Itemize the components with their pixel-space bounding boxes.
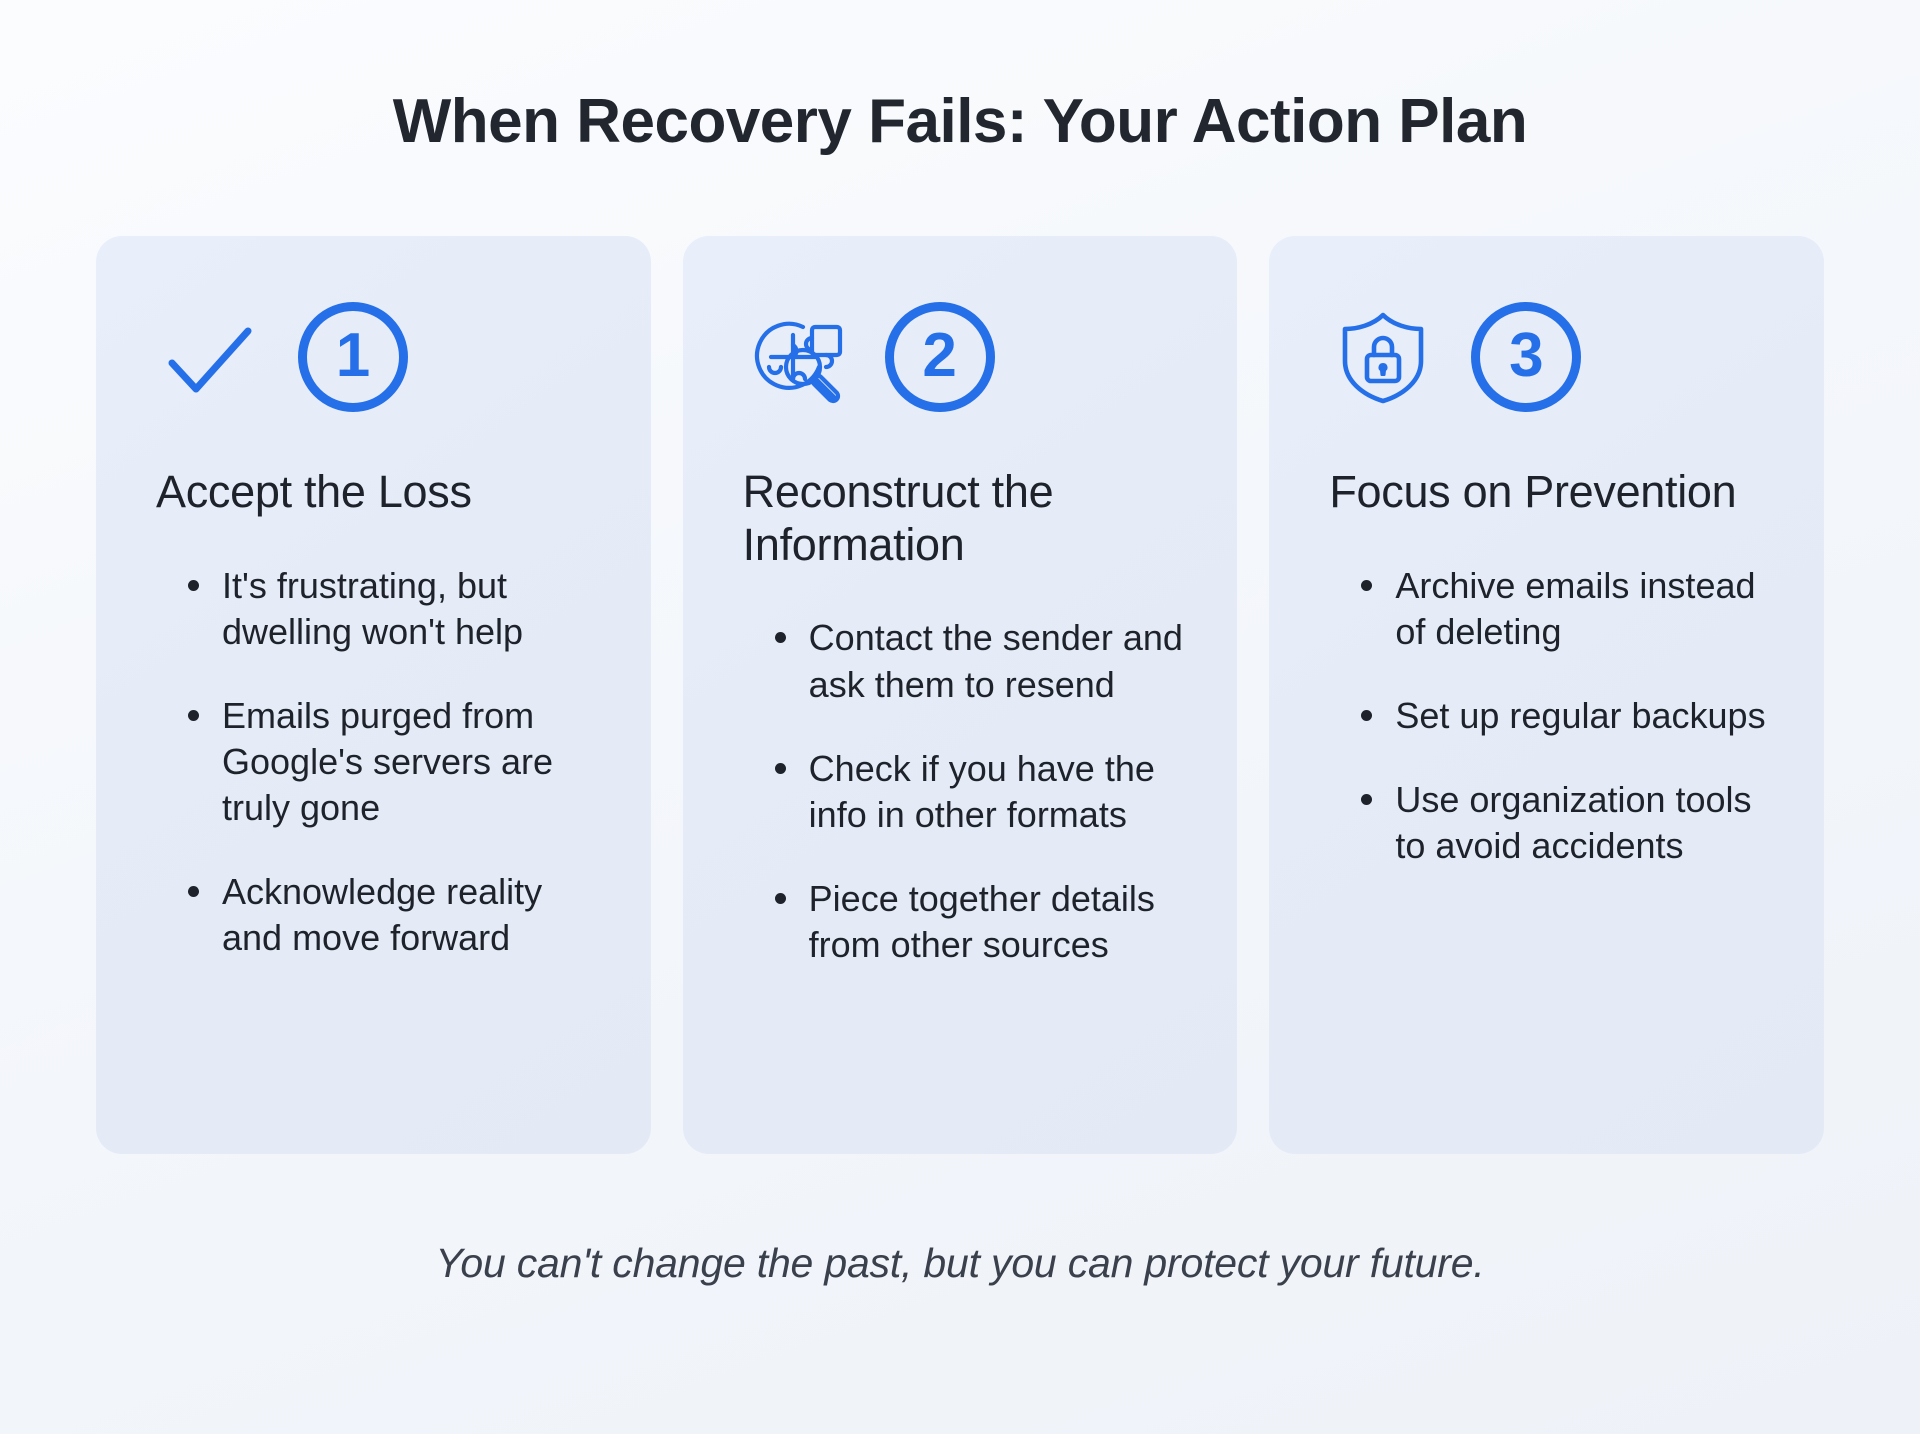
- card-accept-the-loss: 1 Accept the Loss It's frustrating, but …: [96, 236, 651, 1154]
- page-title: When Recovery Fails: Your Action Plan: [0, 88, 1920, 156]
- step-number: 3: [1509, 325, 1543, 387]
- list-item: Acknowledge reality and move forward: [188, 869, 605, 961]
- checkmark-icon: [156, 303, 264, 411]
- list-item: Set up regular backups: [1361, 693, 1778, 739]
- puzzle-magnifier-icon: [743, 303, 851, 411]
- list-item: It's frustrating, but dwelling won't hel…: [188, 563, 605, 655]
- card-bullet-list: Contact the sender and ask them to resen…: [729, 615, 1192, 967]
- step-number-badge: 2: [885, 302, 995, 412]
- step-number-badge: 1: [298, 302, 408, 412]
- card-header: 2: [729, 294, 1192, 420]
- card-reconstruct-the-information: 2 Reconstruct the Information Contact th…: [683, 236, 1238, 1154]
- list-item: Check if you have the info in other form…: [775, 746, 1192, 838]
- step-number-badge: 3: [1471, 302, 1581, 412]
- step-number: 2: [922, 325, 956, 387]
- list-item: Archive emails instead of deleting: [1361, 563, 1778, 655]
- card-focus-on-prevention: 3 Focus on Prevention Archive emails ins…: [1269, 236, 1824, 1154]
- card-title: Accept the Loss: [142, 466, 605, 519]
- card-bullet-list: It's frustrating, but dwelling won't hel…: [142, 563, 605, 962]
- step-number: 1: [336, 325, 370, 387]
- card-title: Focus on Prevention: [1315, 466, 1778, 519]
- list-item: Piece together details from other source…: [775, 876, 1192, 968]
- footer-tagline: You can't change the past, but you can p…: [0, 1240, 1920, 1287]
- shield-lock-icon: [1329, 303, 1437, 411]
- card-bullet-list: Archive emails instead of deleting Set u…: [1315, 563, 1778, 869]
- card-header: 3: [1315, 294, 1778, 420]
- cards-container: 1 Accept the Loss It's frustrating, but …: [0, 236, 1920, 1154]
- infographic-page: When Recovery Fails: Your Action Plan 1 …: [0, 0, 1920, 1434]
- list-item: Use organization tools to avoid accident…: [1361, 777, 1778, 869]
- list-item: Contact the sender and ask them to resen…: [775, 615, 1192, 707]
- card-title: Reconstruct the Information: [729, 466, 1192, 571]
- list-item: Emails purged from Google's servers are …: [188, 693, 605, 831]
- card-header: 1: [142, 294, 605, 420]
